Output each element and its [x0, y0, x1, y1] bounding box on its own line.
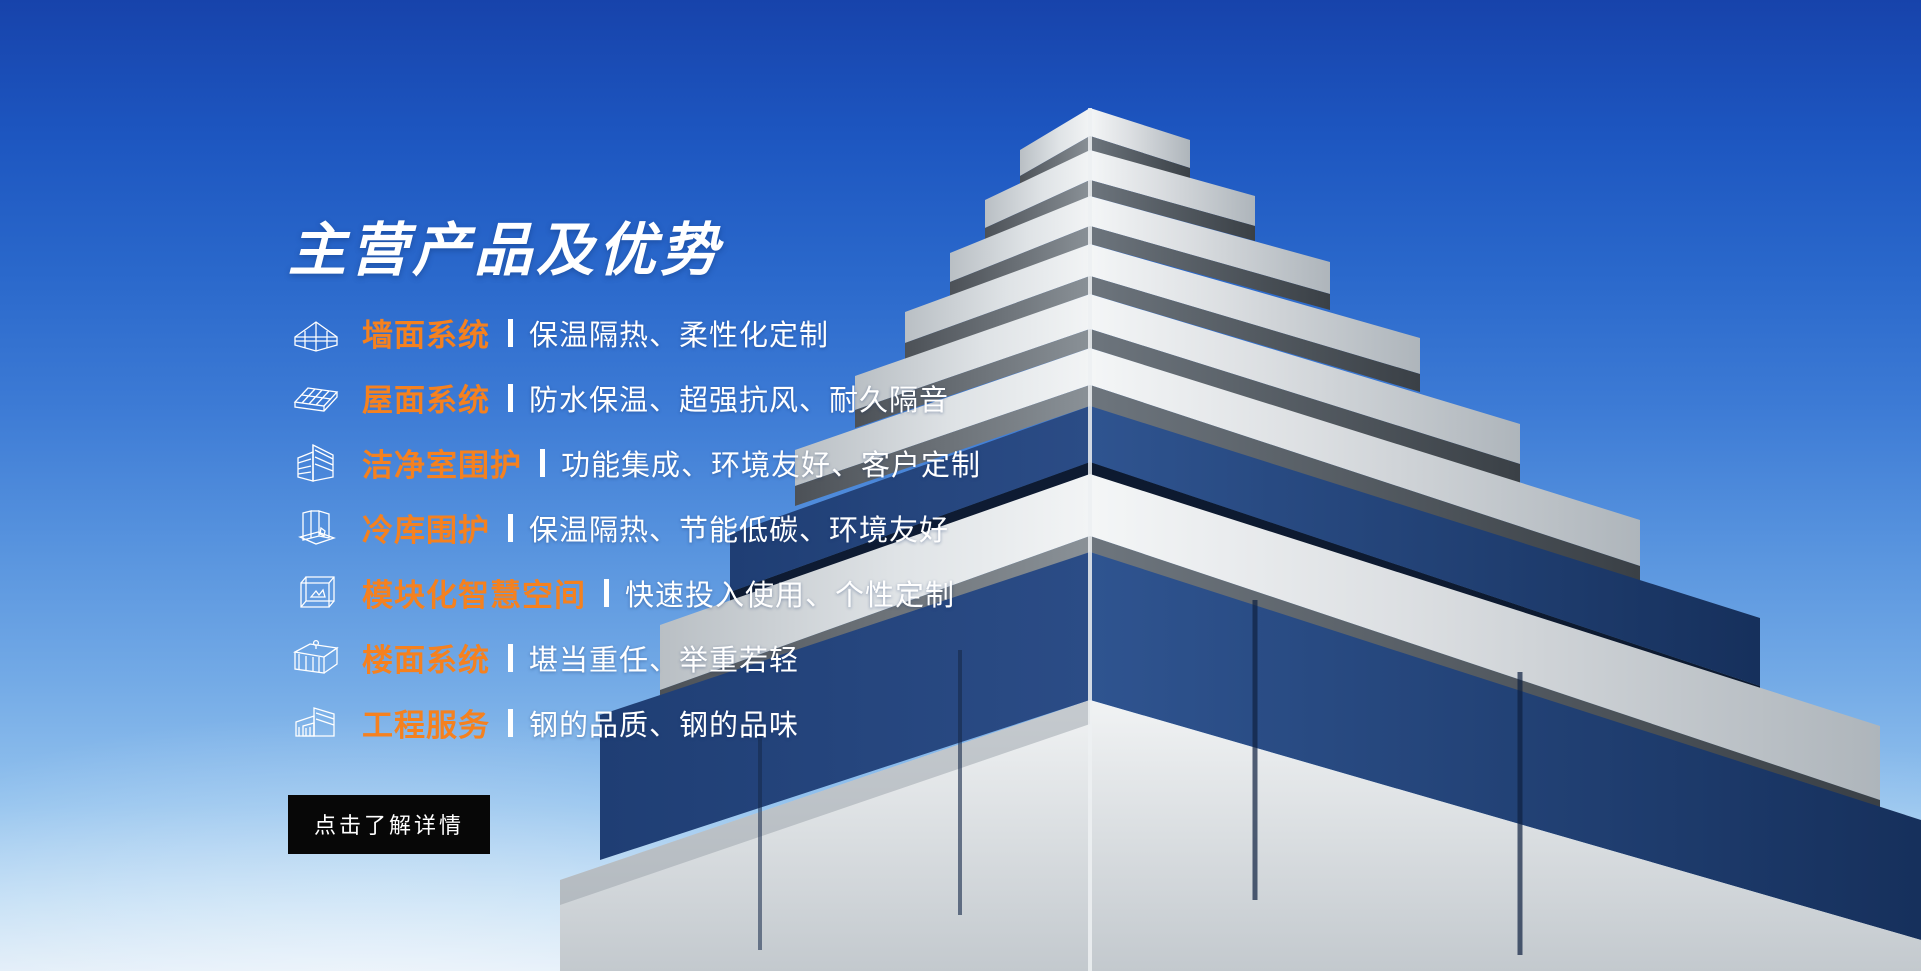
- modular-cube-icon: [288, 569, 344, 617]
- list-item-desc: 防水保温、超强抗风、耐久隔音: [529, 377, 949, 419]
- list-item-desc: 功能集成、环境友好、客户定制: [561, 442, 981, 484]
- list-item[interactable]: 工程服务 钢的品质、钢的品味: [288, 690, 981, 755]
- list-item-title: 墙面系统: [362, 310, 490, 355]
- list-item[interactable]: 冷库围护 保温隔热、节能低碳、环境友好: [288, 495, 981, 560]
- separator-bar: [508, 514, 513, 542]
- separator-bar: [604, 579, 609, 607]
- list-item-desc: 钢的品质、钢的品味: [529, 702, 799, 744]
- list-item-title: 楼面系统: [362, 635, 490, 680]
- separator-bar: [508, 709, 513, 737]
- floor-deck-box-icon: [288, 634, 344, 682]
- cold-storage-icon: [288, 504, 344, 552]
- list-item[interactable]: 洁净室围护 功能集成、环境友好、客户定制: [288, 430, 981, 495]
- list-item[interactable]: 楼面系统 堪当重任、举重若轻: [288, 625, 981, 690]
- list-item[interactable]: 模块化智慧空间 快速投入使用、个性定制: [288, 560, 981, 625]
- list-item-desc: 保温隔热、节能低碳、环境友好: [529, 507, 949, 549]
- list-item-desc: 快速投入使用、个性定制: [625, 572, 955, 614]
- list-item-title: 洁净室围护: [362, 440, 522, 485]
- list-item-desc: 堪当重任、举重若轻: [529, 637, 799, 679]
- banner-content: 主营产品及优势 墙面系统 保温隔热、柔性化定制: [0, 0, 1100, 971]
- hero-banner: 主营产品及优势 墙面系统 保温隔热、柔性化定制: [0, 0, 1921, 971]
- building-right-facade: [1090, 108, 1921, 971]
- page-title: 主营产品及优势: [288, 203, 722, 287]
- list-item-title: 模块化智慧空间: [362, 570, 586, 615]
- cleanroom-building-icon: [288, 439, 344, 487]
- roof-panel-wireframe-icon: [288, 374, 344, 422]
- factory-complex-icon: [288, 699, 344, 747]
- list-item[interactable]: 墙面系统 保温隔热、柔性化定制: [288, 300, 981, 365]
- list-item[interactable]: 屋面系统 防水保温、超强抗风、耐久隔音: [288, 365, 981, 430]
- separator-bar: [508, 644, 513, 672]
- list-item-title: 工程服务: [362, 700, 490, 745]
- list-item-title: 屋面系统: [362, 375, 490, 420]
- separator-bar: [508, 384, 513, 412]
- learn-more-button[interactable]: 点击了解详情: [288, 795, 490, 854]
- wall-panel-wireframe-icon: [288, 309, 344, 357]
- product-feature-list: 墙面系统 保温隔热、柔性化定制 屋面系统: [288, 300, 981, 755]
- list-item-desc: 保温隔热、柔性化定制: [529, 312, 829, 354]
- separator-bar: [540, 449, 545, 477]
- separator-bar: [508, 319, 513, 347]
- list-item-title: 冷库围护: [362, 505, 490, 550]
